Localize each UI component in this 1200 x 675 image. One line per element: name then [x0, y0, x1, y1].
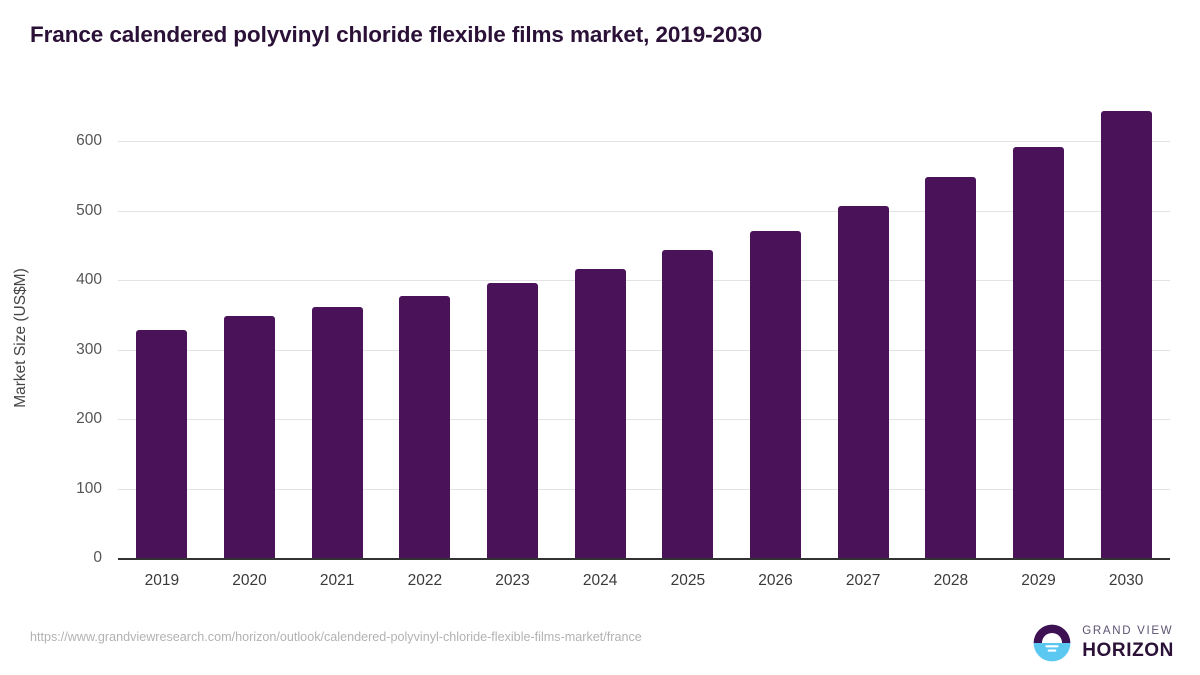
- y-tick-label: 0: [26, 549, 102, 567]
- x-tick-label: 2027: [818, 572, 908, 590]
- chart-canvas: 0100200300400500600 20192020202120222023…: [0, 0, 1200, 675]
- bar[interactable]: [399, 296, 450, 558]
- y-tick-label: 300: [26, 341, 102, 359]
- horizon-sun-circle-icon: [1031, 622, 1073, 664]
- bar[interactable]: [487, 283, 538, 558]
- x-tick-label: 2025: [643, 572, 733, 590]
- x-tick-label: 2024: [555, 572, 645, 590]
- y-tick-label: 500: [26, 202, 102, 220]
- x-tick-label: 2028: [906, 572, 996, 590]
- bar[interactable]: [136, 330, 187, 558]
- bar[interactable]: [925, 177, 976, 558]
- bar[interactable]: [224, 316, 275, 558]
- bar[interactable]: [1101, 111, 1152, 558]
- x-tick-label: 2019: [117, 572, 207, 590]
- x-axis-line: [118, 558, 1170, 560]
- brand-line-1: GRAND VIEW: [1082, 626, 1174, 638]
- x-tick-label: 2029: [994, 572, 1084, 590]
- x-tick-label: 2026: [731, 572, 821, 590]
- x-tick-label: 2021: [292, 572, 382, 590]
- bar[interactable]: [312, 307, 363, 558]
- y-tick-label: 600: [26, 132, 102, 150]
- bar[interactable]: [750, 231, 801, 558]
- y-tick-label: 100: [26, 480, 102, 498]
- y-tick-label: 200: [26, 410, 102, 428]
- brand-line-2: HORIZON: [1082, 641, 1174, 660]
- source-url[interactable]: https://www.grandviewresearch.com/horizo…: [30, 630, 642, 644]
- x-tick-label: 2023: [468, 572, 558, 590]
- bar[interactable]: [1013, 147, 1064, 558]
- x-tick-label: 2030: [1081, 572, 1171, 590]
- bar[interactable]: [575, 269, 626, 558]
- bar[interactable]: [838, 206, 889, 558]
- y-axis-title: Market Size (US$M): [12, 208, 30, 468]
- brand-logo-text: GRAND VIEW HORIZON: [1082, 626, 1174, 661]
- brand-logo: GRAND VIEW HORIZON: [1031, 622, 1174, 664]
- x-tick-label: 2020: [205, 572, 295, 590]
- chart-page: France calendered polyvinyl chloride fle…: [0, 0, 1200, 675]
- y-tick-label: 400: [26, 271, 102, 289]
- x-tick-label: 2022: [380, 572, 470, 590]
- bar[interactable]: [662, 250, 713, 558]
